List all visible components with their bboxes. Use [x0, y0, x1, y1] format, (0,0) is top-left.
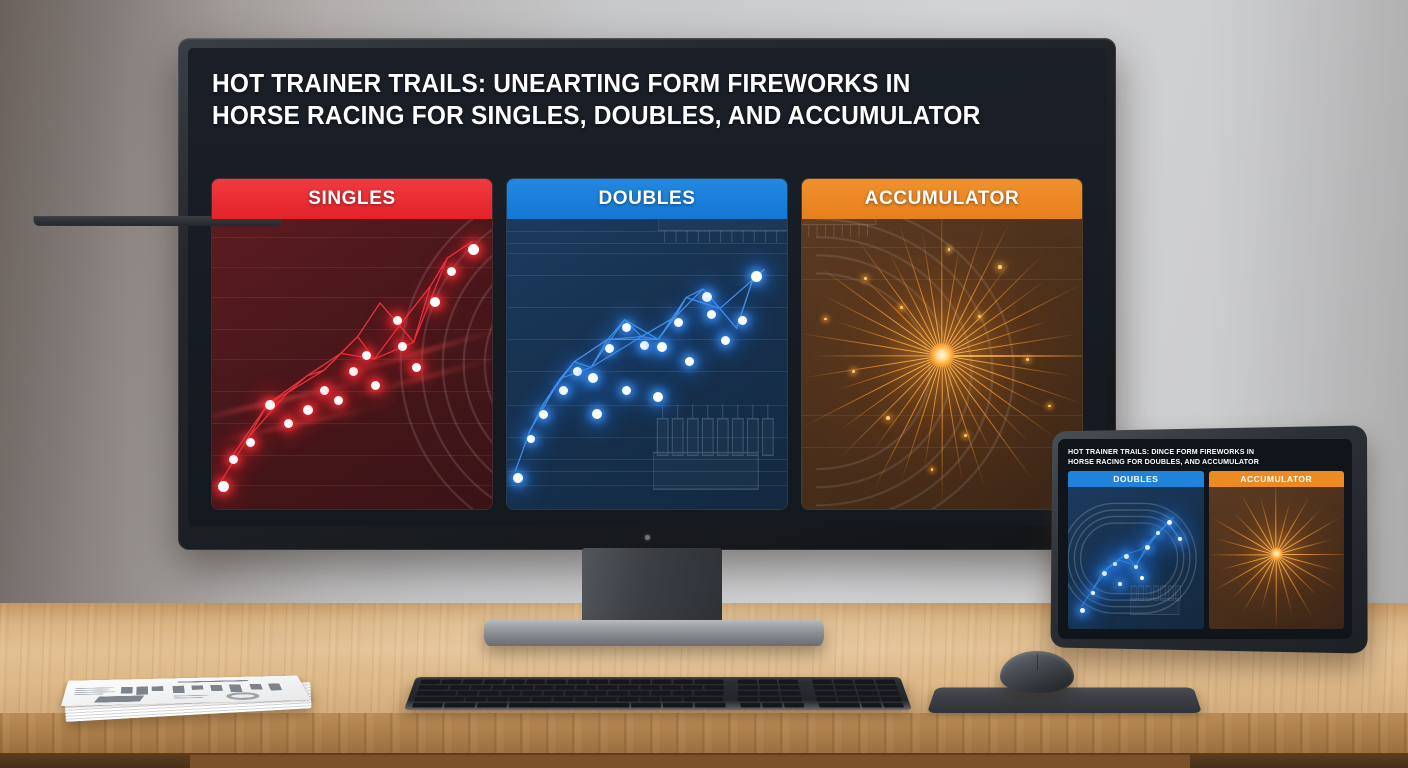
document-donut-chart [225, 692, 260, 700]
data-point [1167, 520, 1172, 525]
data-point [468, 244, 479, 255]
document-text-line [173, 695, 208, 697]
document-text-line [174, 697, 204, 698]
tablet-page-title: HOT TRAINER TRAILS: DINCE FORM FIREWORKS… [1058, 439, 1352, 468]
panel-accumulator-header: ACCUMULATOR [802, 179, 1082, 219]
tablet-device: HOT TRAINER TRAILS: DINCE FORM FIREWORKS… [1046, 428, 1364, 650]
keyboard-body[interactable] [404, 677, 912, 710]
data-point [751, 271, 762, 282]
data-point [527, 435, 535, 443]
tablet-panel-row: DOUBLES [1068, 471, 1344, 629]
desk-apron-inner [190, 755, 1190, 768]
panel-accumulator[interactable]: ACCUMULATOR [802, 179, 1082, 509]
paper-stack [62, 641, 314, 723]
document-chart-shape [94, 695, 145, 702]
tablet-panel-doubles-body [1068, 487, 1204, 629]
page-title-line-2: HORSE RACING FOR SINGLES, DOUBLES, AND A… [212, 100, 1047, 132]
data-point [1102, 571, 1107, 576]
panel-doubles-header: DOUBLES [507, 179, 787, 219]
data-point [588, 373, 598, 383]
page-title-line-1: HOT TRAINER TRAILS: UNEARTING FORM FIREW… [212, 68, 1047, 100]
document-bar [210, 685, 223, 691]
tablet-panel-doubles-header: DOUBLES [1068, 471, 1204, 487]
data-point [1080, 608, 1085, 613]
panel-accumulator-body [802, 219, 1082, 509]
panel-doubles[interactable]: DOUBLES [507, 179, 787, 509]
tablet-firework-core [1270, 547, 1283, 560]
data-point [657, 342, 667, 352]
document-text-line [74, 691, 115, 693]
tablet-firework-burst [1209, 487, 1345, 629]
tablet-title-line-1: HOT TRAINER TRAILS: DINCE FORM FIREWORKS… [1068, 448, 1342, 458]
panel-doubles-body [507, 219, 787, 509]
data-point [412, 363, 421, 372]
monitor-power-led [645, 535, 650, 540]
document-text-line [74, 694, 103, 695]
data-point [362, 351, 371, 360]
tablet-screen[interactable]: HOT TRAINER TRAILS: DINCE FORM FIREWORKS… [1058, 439, 1352, 639]
tablet-panel-doubles[interactable]: DOUBLES [1068, 471, 1204, 629]
mouse-button-divider [1037, 654, 1038, 670]
data-point [1113, 562, 1117, 566]
data-point [674, 318, 683, 327]
data-point [605, 344, 614, 353]
data-point [1124, 554, 1129, 559]
document-title-line [178, 680, 249, 683]
document-bar [121, 687, 133, 694]
desktop-monitor: HOT TRAINER TRAILS: UNEARTING FORM FIREW… [178, 38, 1116, 550]
firework-burst [802, 219, 1082, 509]
data-point [513, 473, 523, 483]
mousepad [927, 687, 1202, 713]
panel-singles-header: SINGLES [212, 179, 492, 219]
data-point [1091, 591, 1095, 595]
document-bar [229, 684, 243, 692]
data-point [393, 316, 402, 325]
tablet-starting-gate [1130, 578, 1187, 618]
data-point [640, 341, 649, 350]
data-point [320, 386, 329, 395]
page-title: HOT TRAINER TRAILS: UNEARTING FORM FIREW… [212, 68, 1047, 132]
doubles-chart-edges [507, 219, 787, 499]
data-point [1178, 537, 1182, 541]
monitor-stand-base [484, 620, 824, 646]
document-bar [136, 687, 148, 695]
data-point [622, 386, 631, 395]
panel-row: SINGLES [212, 179, 1082, 509]
data-point [447, 267, 456, 276]
tablet-title-line-2: HORSE RACING FOR DOUBLES, AND ACCUMULATO… [1068, 458, 1342, 468]
data-point [653, 392, 663, 402]
document-bar [268, 683, 282, 690]
panel-singles[interactable]: SINGLES [212, 179, 492, 509]
document-bar [173, 686, 185, 693]
document-bar [191, 685, 203, 690]
tablet-panel-accumulator-body [1209, 487, 1345, 629]
monitor-screen[interactable]: HOT TRAINER TRAILS: UNEARTING FORM FIREW… [188, 48, 1106, 526]
keyboard[interactable] [404, 654, 912, 710]
monitor-stand-neck [582, 548, 722, 626]
document-bar [152, 686, 164, 691]
data-point [334, 396, 343, 405]
data-point [303, 405, 313, 415]
data-point [702, 292, 712, 302]
data-point [573, 367, 582, 376]
data-point [559, 386, 568, 395]
singles-chart-edges [212, 219, 492, 499]
panel-singles-body [212, 219, 492, 509]
tablet-panel-accumulator[interactable]: ACCUMULATOR [1209, 471, 1345, 629]
document-bar [249, 684, 262, 690]
keyboard-keys [414, 679, 903, 702]
data-point [685, 357, 694, 366]
